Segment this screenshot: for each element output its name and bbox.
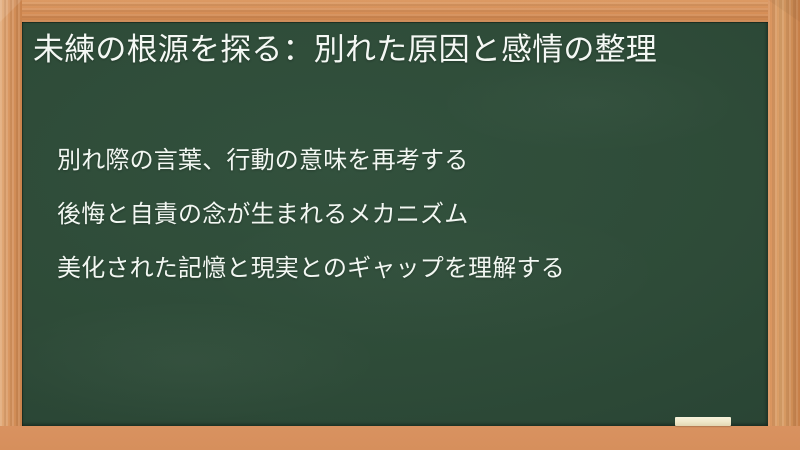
bullet-item-2: 後悔と自責の念が生まれるメカニズム: [57, 201, 757, 229]
frame-rail-left: [0, 0, 22, 450]
bullet-item-1: 別れ際の言葉、行動の意味を再考する: [57, 147, 757, 175]
chalkboard-surface: 未練の根源を探る：別れた原因と感情の整理 別れ際の言葉、行動の意味を再考する 後…: [22, 22, 768, 426]
frame-ledge-bottom: [0, 426, 800, 450]
frame-rail-top: [0, 0, 800, 22]
board-content: 未練の根源を探る：別れた原因と感情の整理 別れ際の言葉、行動の意味を再考する 後…: [22, 22, 768, 426]
chalkboard-slide: 未練の根源を探る：別れた原因と感情の整理 別れ際の言葉、行動の意味を再考する 後…: [0, 0, 800, 450]
slide-title: 未練の根源を探る：別れた原因と感情の整理: [33, 28, 749, 71]
chalk-stick: [675, 417, 731, 426]
slide-bullet-list: 別れ際の言葉、行動の意味を再考する 後悔と自責の念が生まれるメカニズム 美化され…: [57, 147, 757, 283]
bullet-item-3: 美化された記憶と現実とのギャップを理解する: [57, 255, 757, 283]
frame-miter-top-left: [0, 0, 22, 22]
frame-rail-right: [768, 0, 800, 450]
frame-miter-top-right: [768, 0, 800, 22]
